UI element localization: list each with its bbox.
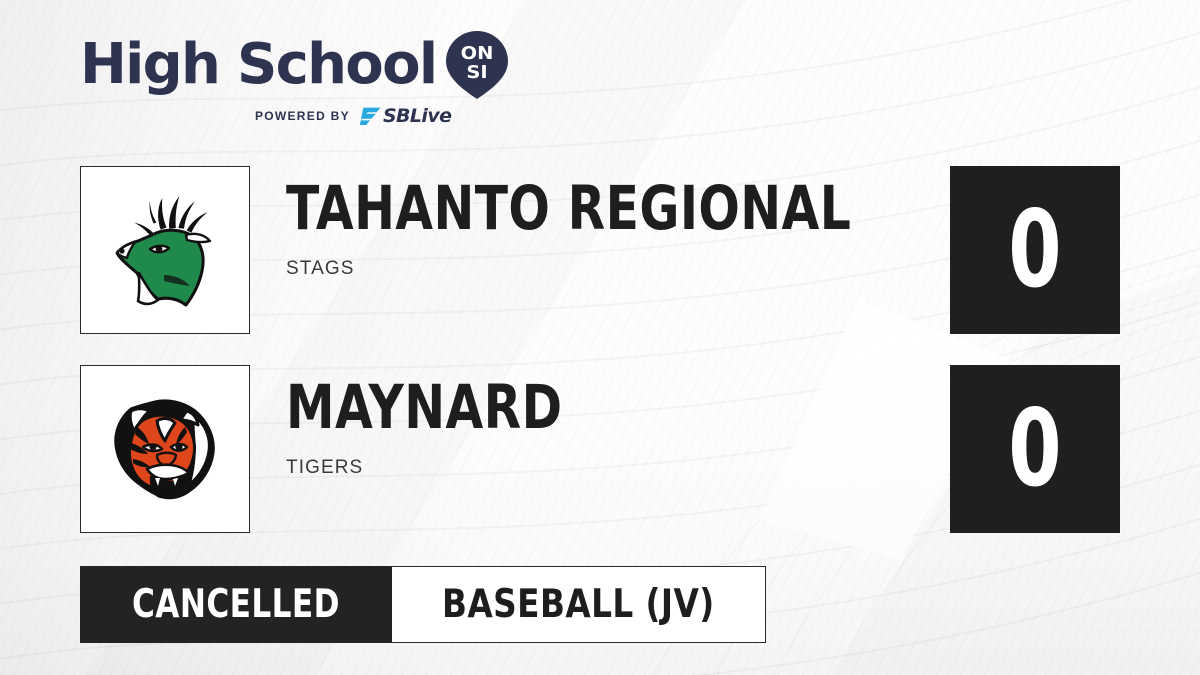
team-mascot: STAGS: [286, 258, 1046, 280]
team-score: 0: [1008, 197, 1061, 303]
team-logo-box: [80, 166, 250, 334]
on-si-pin-icon: ON SI: [446, 31, 508, 99]
tiger-head-logo-icon: [101, 389, 229, 509]
sblive-text: SBLive: [383, 107, 451, 126]
team-info: TAHANTO REGIONAL STAGS: [286, 178, 1046, 280]
status-badge: CANCELLED: [80, 566, 392, 643]
sport-label-box: BASEBALL (JV): [392, 566, 766, 643]
sblive-bolt-icon: [359, 107, 381, 126]
team-score-box: 0: [950, 166, 1120, 334]
team-logo-box: [80, 365, 250, 533]
game-status-bar: CANCELLED BASEBALL (JV): [80, 566, 766, 643]
wordmark-text: High School: [80, 37, 436, 93]
stag-head-logo-icon: [106, 187, 224, 313]
scoreboard-graphic: High School ON SI POWERED BY SBLive: [0, 0, 1200, 675]
svg-text:ON: ON: [461, 44, 494, 64]
team-score: 0: [1008, 396, 1061, 502]
team-name: TAHANTO REGIONAL: [286, 178, 894, 239]
high-school-on-si-logo: High School ON SI: [80, 34, 508, 96]
powered-by-label: POWERED BY: [255, 109, 350, 123]
team-score-box: 0: [950, 365, 1120, 533]
team-mascot: TIGERS: [286, 457, 1046, 479]
sblive-logo: SBLive: [359, 107, 451, 126]
powered-by-sblive: POWERED BY SBLive: [198, 107, 508, 125]
sport-label: BASEBALL (JV): [442, 585, 715, 624]
team-info: MAYNARD TIGERS: [286, 377, 1046, 479]
brand-header: High School ON SI POWERED BY SBLive: [80, 34, 508, 125]
status-badge-label: CANCELLED: [132, 585, 340, 624]
team-name: MAYNARD: [286, 377, 894, 438]
svg-text:SI: SI: [467, 63, 488, 83]
